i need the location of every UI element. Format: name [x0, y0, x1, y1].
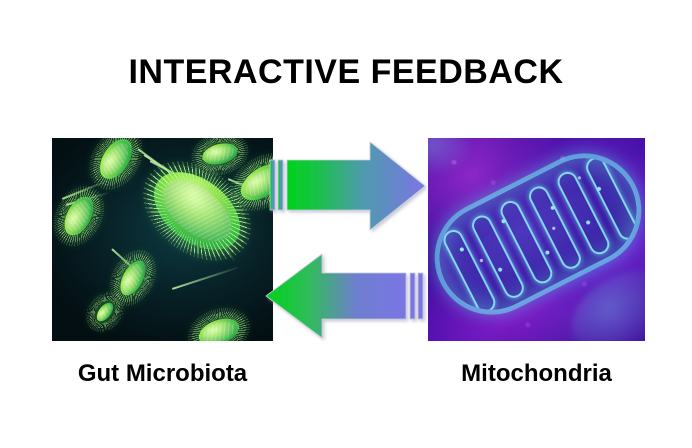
arrow-microbiota-to-mitochondria — [268, 140, 428, 232]
arrow-tail-segment — [278, 160, 283, 210]
arrow-body-left — [266, 254, 406, 338]
bacterium-cytoplasm — [200, 318, 238, 341]
arrow-tail-segment — [270, 160, 275, 210]
arrow-tail-segment — [418, 273, 423, 319]
bacterium-cytoplasm — [63, 197, 94, 236]
arrow-body-right — [287, 142, 425, 230]
gut-microbiota-image — [52, 138, 273, 341]
bacterium-cell — [93, 300, 116, 325]
slide-canvas: INTERACTIVE FEEDBACK — [0, 0, 692, 448]
arrow-mitochondria-to-microbiota — [264, 252, 428, 340]
caption-gut-microbiota: Gut Microbiota — [52, 360, 273, 388]
bacterium-cytoplasm — [96, 302, 114, 322]
bacterium-cell — [93, 138, 138, 185]
bacterium-cell — [200, 140, 240, 168]
arrow-tail-segment — [410, 273, 415, 319]
bacterium-cytoplasm — [119, 261, 146, 295]
bacterium-cell — [115, 257, 150, 300]
bacterium-cytoplasm — [204, 143, 236, 164]
bacterium-cell — [195, 314, 243, 341]
caption-mitochondria: Mitochondria — [428, 360, 645, 388]
mitochondria-image — [428, 138, 645, 341]
page-title: INTERACTIVE FEEDBACK — [0, 52, 692, 92]
bacterium-cytoplasm — [98, 139, 133, 180]
bacterium-cell — [59, 192, 100, 240]
